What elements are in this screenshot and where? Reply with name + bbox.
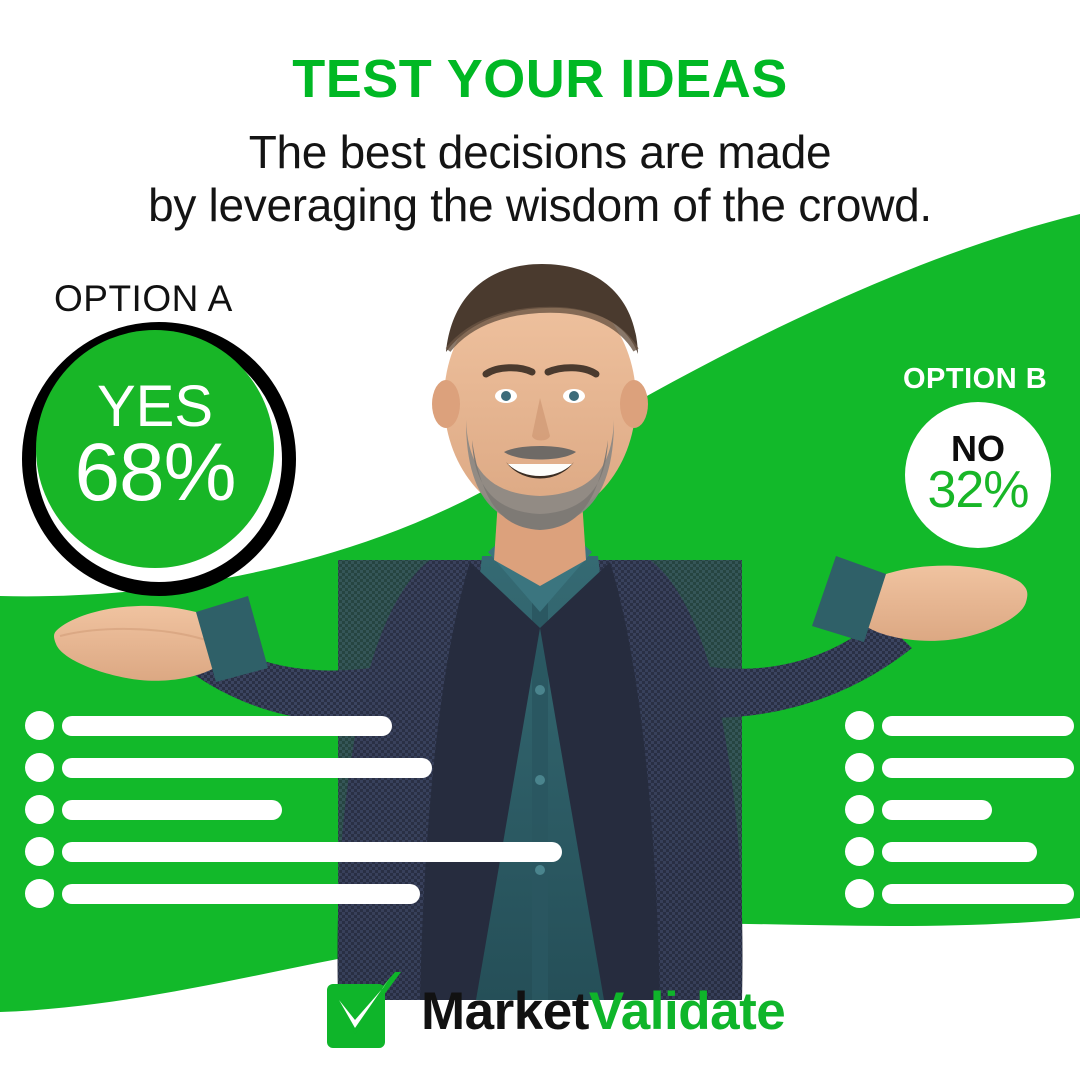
option-a-answer: YES xyxy=(97,380,213,434)
bullet-dot-icon xyxy=(25,795,54,824)
brand-word-market: Market xyxy=(421,982,589,1041)
page-subtitle: The best decisions are made by leveragin… xyxy=(0,126,1080,232)
bullet-dot-icon xyxy=(25,837,54,866)
option-b-percent: 32% xyxy=(927,465,1028,515)
placeholder-bar xyxy=(62,716,392,736)
checkmark-icon xyxy=(325,972,403,1050)
bullet-dot-icon xyxy=(845,879,874,908)
bullet-dot-icon xyxy=(25,879,54,908)
subtitle-line-1: The best decisions are made xyxy=(0,126,1080,179)
option-b-badge[interactable]: NO 32% xyxy=(905,402,1051,548)
bullet-dot-icon xyxy=(845,753,874,782)
placeholder-bar xyxy=(882,716,1074,736)
brand-wordmark: MarketValidate xyxy=(421,985,785,1038)
bullet-dot-icon xyxy=(25,711,54,740)
page-title: TEST YOUR IDEAS xyxy=(0,52,1080,106)
option-a-badge[interactable]: YES 68% xyxy=(36,330,274,568)
placeholder-bar xyxy=(62,758,432,778)
bullet-dot-icon xyxy=(845,711,874,740)
placeholder-bar xyxy=(882,800,992,820)
poster-canvas: TEST YOUR IDEAS The best decisions are m… xyxy=(0,0,1080,1080)
brand-word-validate: Validate xyxy=(589,982,785,1041)
placeholder-bar xyxy=(882,758,1074,778)
bullet-dot-icon xyxy=(25,753,54,782)
placeholder-bar xyxy=(62,800,282,820)
placeholder-bar xyxy=(62,884,420,904)
option-b-label: OPTION B xyxy=(903,363,1047,396)
placeholder-bar xyxy=(62,842,562,862)
option-a-percent: 68% xyxy=(74,434,235,512)
brand-logo[interactable]: MarketValidate xyxy=(325,972,785,1050)
placeholder-bar xyxy=(882,884,1074,904)
placeholder-bar xyxy=(882,842,1037,862)
bullet-dot-icon xyxy=(845,837,874,866)
bullet-dot-icon xyxy=(845,795,874,824)
subtitle-line-2: by leveraging the wisdom of the crowd. xyxy=(0,179,1080,232)
option-a-label: OPTION A xyxy=(54,278,233,320)
